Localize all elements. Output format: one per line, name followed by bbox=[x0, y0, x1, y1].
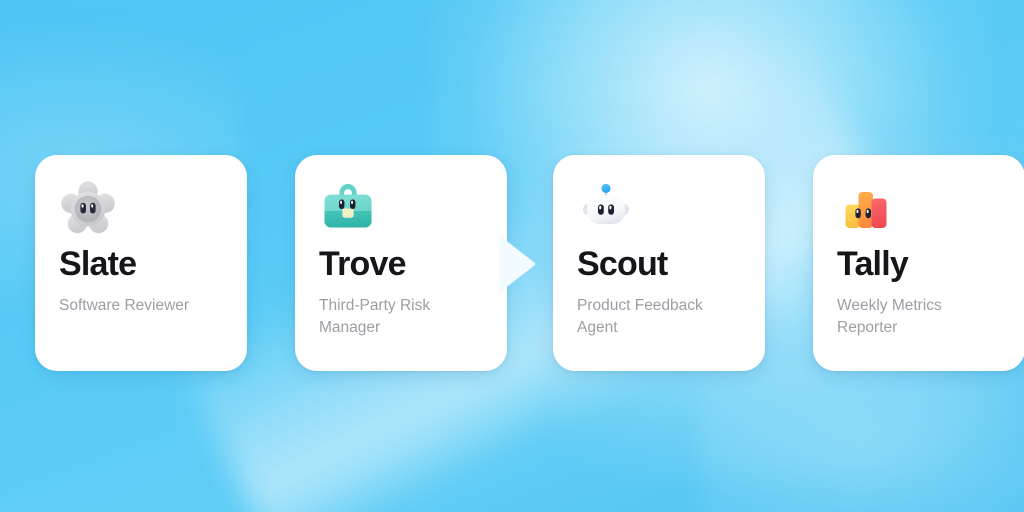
agent-card-trove[interactable]: Trove Third-Party Risk Manager bbox=[295, 155, 507, 371]
briefcase-face-icon bbox=[319, 179, 377, 237]
agent-card-tally[interactable]: Tally Weekly Metrics Reporter bbox=[813, 155, 1024, 371]
agent-card-title: Trove bbox=[319, 247, 483, 283]
agent-card-title: Scout bbox=[577, 247, 741, 283]
agent-card-slate[interactable]: Slate Software Reviewer bbox=[35, 155, 247, 371]
agent-card-title: Tally bbox=[837, 247, 1001, 283]
agent-card-subtitle: Product Feedback Agent bbox=[577, 295, 741, 339]
agent-card-subtitle: Third-Party Risk Manager bbox=[319, 295, 483, 339]
chevron-right-arrow-icon bbox=[499, 233, 537, 295]
agent-flow-canvas: Slate Software Reviewer bbox=[0, 0, 1024, 512]
gear-flower-face-icon bbox=[59, 179, 117, 237]
agent-card-scout[interactable]: Scout Product Feedback Agent bbox=[553, 155, 765, 371]
agent-card-subtitle: Software Reviewer bbox=[59, 295, 223, 317]
robot-head-antenna-icon bbox=[577, 179, 635, 237]
agent-card-title: Slate bbox=[59, 247, 223, 283]
bar-chart-face-icon bbox=[837, 179, 895, 237]
agent-card-subtitle: Weekly Metrics Reporter bbox=[837, 295, 1001, 339]
